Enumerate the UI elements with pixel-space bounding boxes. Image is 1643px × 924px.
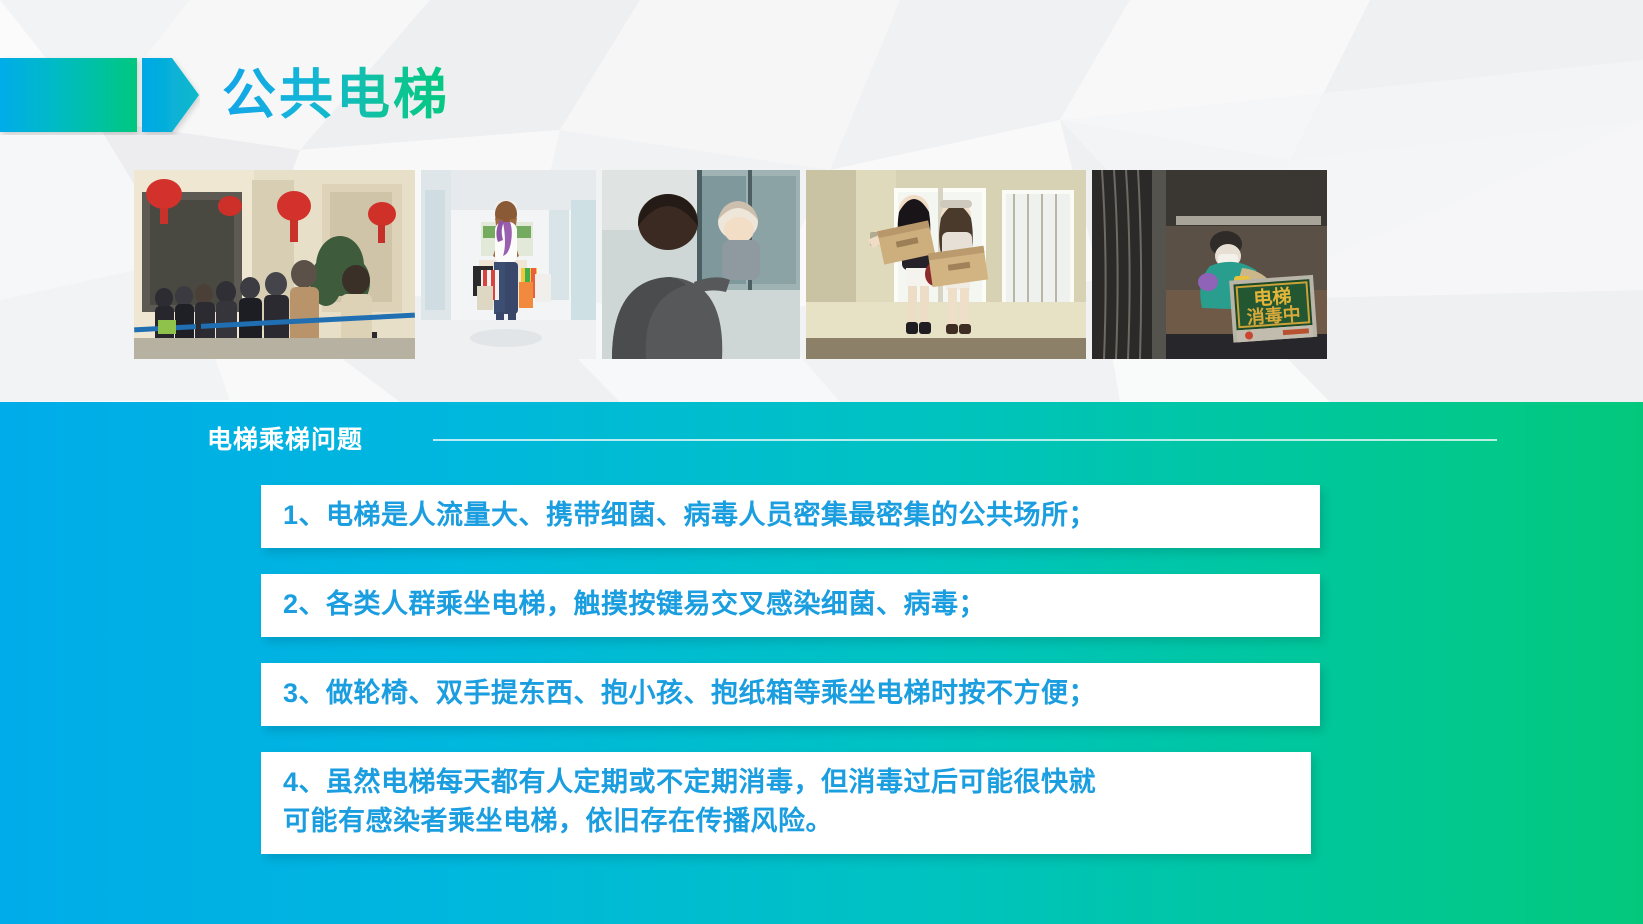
bullet-card-3-number: 3、 [283, 678, 326, 708]
svg-text:消毒中: 消毒中 [1246, 303, 1301, 328]
lobby-queue-photo [134, 170, 415, 359]
section-heading: 电梯乘梯问题 [207, 420, 1497, 456]
parent-carrying-child-photo [602, 170, 800, 359]
bullet-card-2-text: 2、各类人群乘坐电梯，触摸按键易交叉感染细菌、病毒； [283, 585, 1298, 624]
women-carrying-boxes-photo [806, 170, 1086, 359]
bullet-card-1[interactable]: 1、电梯是人流量大、携带细菌、病毒人员密集最密集的公共场所； [261, 485, 1320, 548]
bullet-card-4-number: 4、 [283, 767, 326, 797]
bullet-card-1-number: 1、 [283, 500, 326, 530]
bullet-card-1-body: 电梯是人流量大、携带细菌、病毒人员密集最密集的公共场所； [326, 500, 1096, 530]
photo-strip: 电梯 消毒中 [134, 170, 1327, 362]
page-title: 公共电梯 [222, 53, 450, 137]
bullet-card-3-text: 3、做轮椅、双手提东西、抱小孩、抱纸箱等乘坐电梯时按不方便； [283, 674, 1298, 713]
bullet-card-2[interactable]: 2、各类人群乘坐电梯，触摸按键易交叉感染细菌、病毒； [261, 574, 1320, 637]
title-banner: 公共电梯 [0, 55, 520, 135]
slide-canvas: 公共电梯 [0, 0, 1643, 924]
bullet-card-3-body: 做轮椅、双手提东西、抱小孩、抱纸箱等乘坐电梯时按不方便； [326, 678, 1096, 708]
bullet-card-4-body: 虽然电梯每天都有人定期或不定期消毒，但消毒过后可能很快就 可能有感染者乘坐电梯，… [283, 767, 1096, 836]
bullet-card-4-text: 4、虽然电梯每天都有人定期或不定期消毒，但消毒过后可能很快就 可能有感染者乘坐电… [283, 763, 1289, 841]
bullet-card-4[interactable]: 4、虽然电梯每天都有人定期或不定期消毒，但消毒过后可能很快就 可能有感染者乘坐电… [261, 752, 1311, 854]
shopping-mall-photo [421, 170, 596, 359]
bullet-card-3[interactable]: 3、做轮椅、双手提东西、抱小孩、抱纸箱等乘坐电梯时按不方便； [261, 663, 1320, 726]
section-heading-rule [433, 439, 1497, 441]
section-heading-label: 电梯乘梯问题 [207, 420, 363, 456]
elevator-disinfection-photo: 电梯 消毒中 [1092, 170, 1327, 359]
bullet-card-2-number: 2、 [283, 589, 326, 619]
bullet-card-2-body: 各类人群乘坐电梯，触摸按键易交叉感染细菌、病毒； [326, 589, 986, 619]
bullet-card-1-text: 1、电梯是人流量大、携带细菌、病毒人员密集最密集的公共场所； [283, 496, 1298, 535]
bullet-list: 1、电梯是人流量大、携带细菌、病毒人员密集最密集的公共场所； 2、各类人群乘坐电… [261, 485, 1391, 880]
banner-arrow-shape [0, 55, 200, 135]
